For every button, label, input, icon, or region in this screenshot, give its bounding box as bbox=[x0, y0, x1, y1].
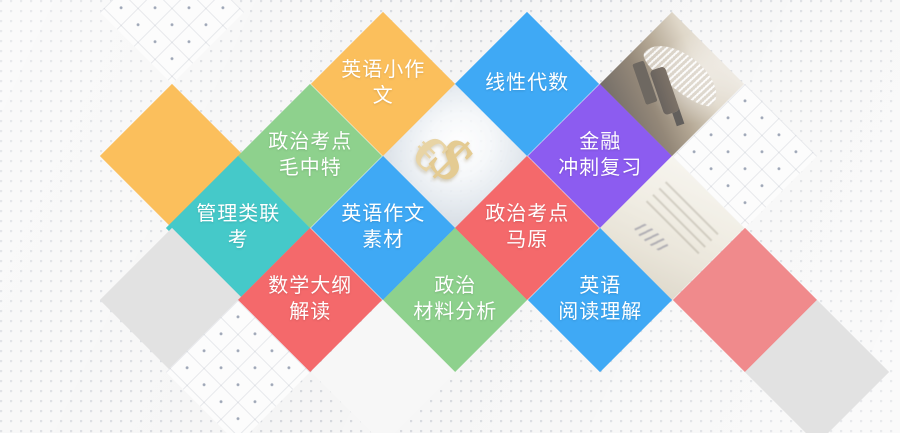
tile-label: 英语小作文 bbox=[332, 58, 434, 109]
tile-label: 英语 阅读理解 bbox=[549, 274, 651, 325]
tile-label: 线性代数 bbox=[476, 71, 578, 97]
diamond-tile-banner: 英语小作文线性代数政治考点 毛中特金融 冲刺复习管理类联考英语作文 素材政治考点… bbox=[0, 0, 900, 433]
decorative-dotted-tile bbox=[100, 0, 244, 84]
tile-label: 政治考点 毛中特 bbox=[259, 130, 361, 181]
tile-label: 数学大纲 解读 bbox=[259, 274, 361, 325]
tile-label: 管理类联考 bbox=[187, 202, 289, 253]
tile-label: 政治考点 马原 bbox=[476, 202, 578, 253]
tile-label: 政治 材料分析 bbox=[404, 274, 506, 325]
tile-label: 英语作文 素材 bbox=[332, 202, 434, 253]
tile-label: 金融 冲刺复习 bbox=[549, 130, 651, 181]
